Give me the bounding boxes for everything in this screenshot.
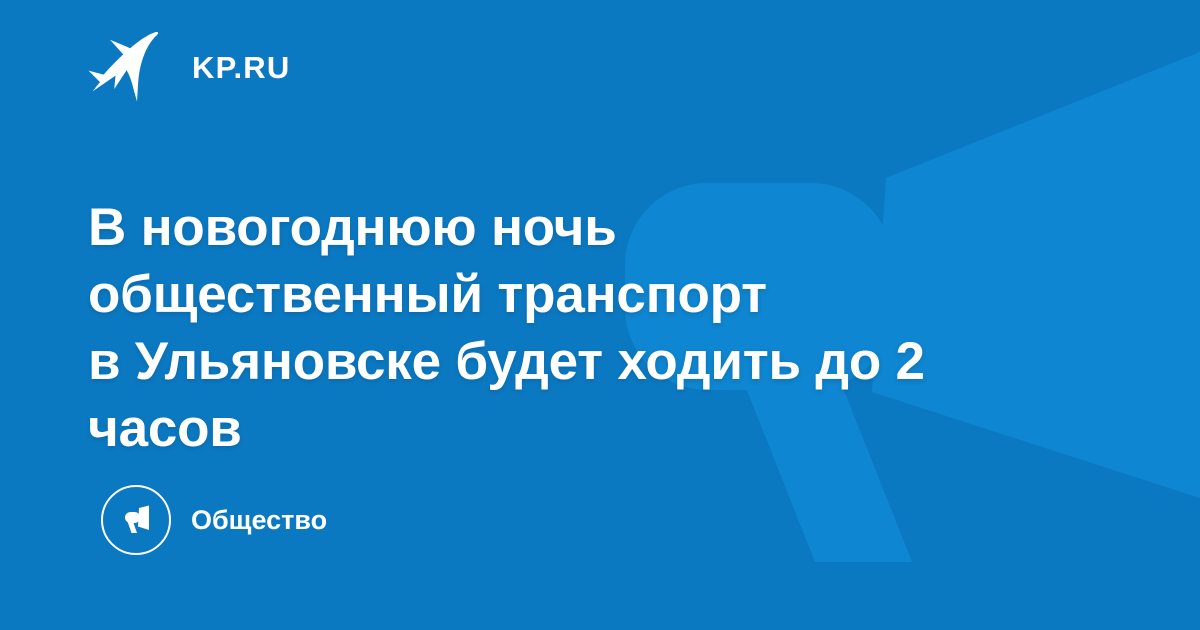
site-logo[interactable]: KP.RU xyxy=(88,30,290,104)
site-logo-text: KP.RU xyxy=(192,52,290,83)
swallow-bird-icon xyxy=(88,32,166,102)
headline-line-4: часов xyxy=(88,395,1048,462)
megaphone-icon xyxy=(119,503,153,537)
page-title: В новогоднюю ночь общественный транспорт… xyxy=(88,194,1048,462)
category-label: Общество xyxy=(191,507,327,534)
headline-line-3: в Ульяновске будет ходить до 2 xyxy=(88,328,1048,395)
headline-line-1: В новогоднюю ночь xyxy=(88,194,1048,261)
social-share-card: KP.RU В новогоднюю ночь общественный тра… xyxy=(0,0,1200,630)
category-icon-circle xyxy=(101,485,171,555)
headline-line-2: общественный транспорт xyxy=(88,261,1048,328)
category-badge[interactable]: Общество xyxy=(101,484,327,556)
